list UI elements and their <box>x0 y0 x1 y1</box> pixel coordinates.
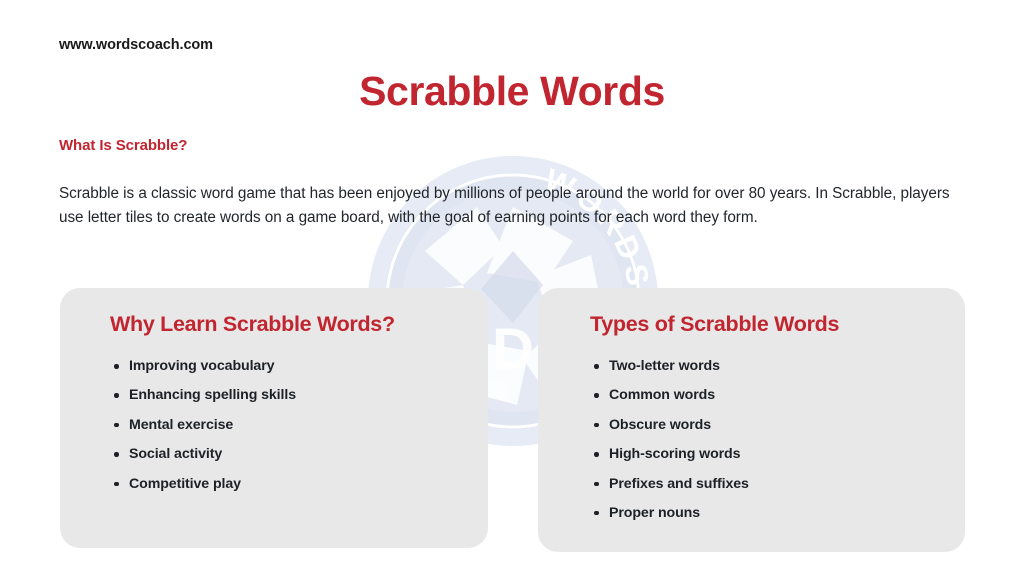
list-item: Competitive play <box>112 476 296 492</box>
list-item: Improving vocabulary <box>112 358 296 374</box>
list-item: Social activity <box>112 446 296 462</box>
intro-paragraph: Scrabble is a classic word game that has… <box>59 182 965 230</box>
slide-canvas: WORDS COACH D Why Learn Scrabble Words? … <box>0 0 1024 576</box>
list-item: Obscure words <box>592 417 749 433</box>
card-left-list: Improving vocabulary Enhancing spelling … <box>112 358 296 505</box>
card-types-of-scrabble-words: Types of Scrabble Words Two-letter words… <box>538 288 965 552</box>
card-left-title: Why Learn Scrabble Words? <box>110 312 395 337</box>
section-heading-what-is-scrabble: What Is Scrabble? <box>59 137 187 154</box>
list-item: Two-letter words <box>592 358 749 374</box>
list-item: Common words <box>592 387 749 403</box>
list-item: Prefixes and suffixes <box>592 476 749 492</box>
list-item: Enhancing spelling skills <box>112 387 296 403</box>
list-item: Mental exercise <box>112 417 296 433</box>
card-right-title: Types of Scrabble Words <box>590 312 839 337</box>
list-item: Proper nouns <box>592 505 749 521</box>
site-url: www.wordscoach.com <box>59 37 213 53</box>
card-right-list: Two-letter words Common words Obscure wo… <box>592 358 749 534</box>
page-title: Scrabble Words <box>0 68 1024 115</box>
list-item: High-scoring words <box>592 446 749 462</box>
card-why-learn-scrabble-words: Why Learn Scrabble Words? Improving voca… <box>60 288 488 548</box>
